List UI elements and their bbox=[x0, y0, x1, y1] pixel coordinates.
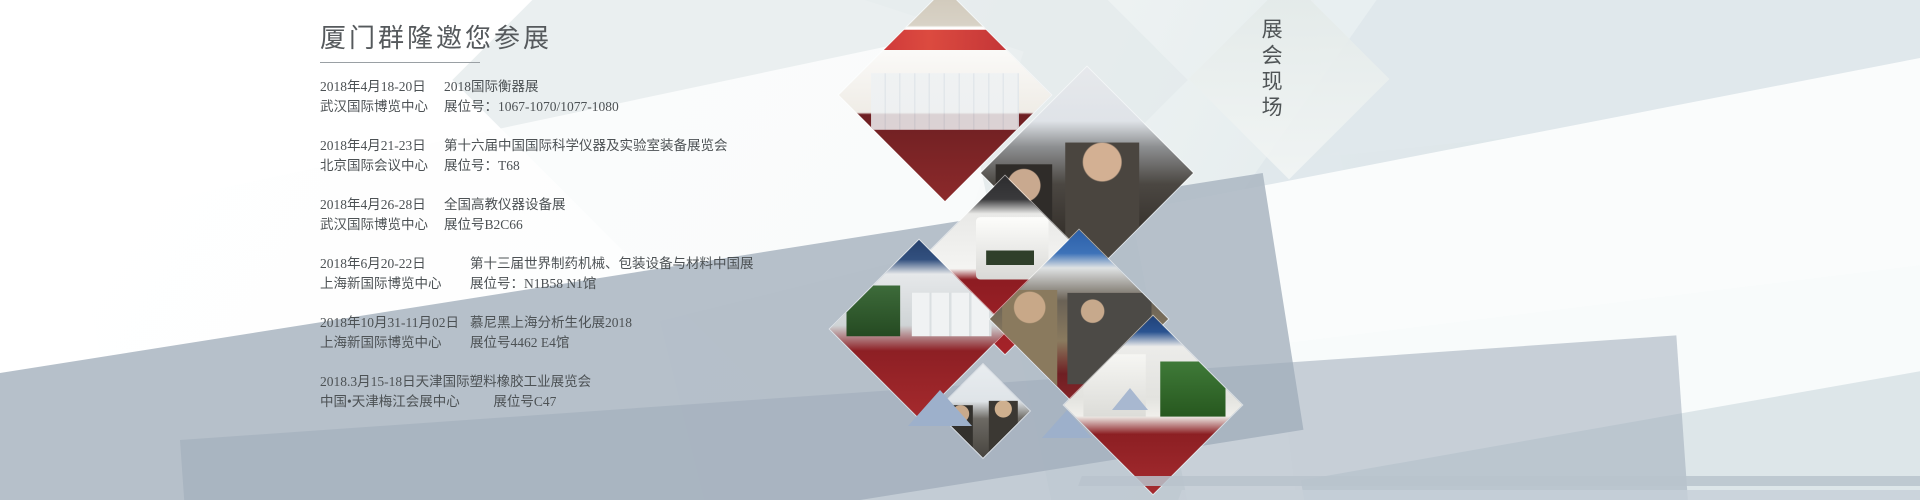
event-name: 第十三届世界制药机械、包装设备与材料中国展 bbox=[470, 254, 754, 274]
event-line-top: 2018.3月15-18日天津国际塑料橡胶工业展览会 bbox=[320, 372, 878, 392]
event-booth: 展位号：T68 bbox=[444, 156, 520, 176]
event-line-bottom: 武汉国际博览中心 展位号：1067-1070/1077-1080 bbox=[320, 97, 878, 117]
event-line-top: 2018年10月31-11月02日 慕尼黑上海分析生化展2018 bbox=[320, 313, 878, 333]
event-name: 2018国际衡器展 bbox=[444, 77, 539, 97]
event-line-bottom: 上海新国际博览中心 展位号4462 E4馆 bbox=[320, 333, 878, 353]
event-item: 2018年6月20-22日 第十三届世界制药机械、包装设备与材料中国展 上海新国… bbox=[320, 254, 878, 294]
event-line-bottom: 上海新国际博览中心 展位号：N1B58 N1馆 bbox=[320, 274, 878, 294]
event-line-top: 2018年4月18-20日 2018国际衡器展 bbox=[320, 77, 878, 97]
event-venue: 上海新国际博览中心 bbox=[320, 274, 470, 294]
event-date: 2018年10月31-11月02日 bbox=[320, 313, 470, 333]
event-line-bottom: 中国•天津梅江会展中心 展位号C47 bbox=[320, 392, 878, 412]
event-date: 2018年4月26-28日 bbox=[320, 195, 444, 215]
event-booth: 展位号：N1B58 N1馆 bbox=[470, 274, 596, 294]
event-item: 2018年4月18-20日 2018国际衡器展 武汉国际博览中心 展位号：106… bbox=[320, 77, 878, 117]
event-venue: 中国•天津梅江会展中心 bbox=[320, 392, 490, 412]
event-name: 慕尼黑上海分析生化展2018 bbox=[470, 313, 632, 333]
page-title: 厦门群隆邀您参展 bbox=[320, 22, 878, 56]
event-date: 2018.3月15-18日天津国际塑料橡胶工业展览会 bbox=[320, 372, 591, 392]
event-booth: 展位号C47 bbox=[493, 392, 556, 412]
event-list-panel: 厦门群隆邀您参展 2018年4月18-20日 2018国际衡器展 武汉国际博览中… bbox=[318, 22, 878, 431]
exhibition-banner: 展会现场 厦门群隆邀您参展 2018年4月18-20日 2018国际衡器展 武汉… bbox=[0, 0, 1920, 500]
event-venue: 武汉国际博览中心 bbox=[320, 97, 444, 117]
event-line-bottom: 武汉国际博览中心 展位号B2C66 bbox=[320, 215, 878, 235]
event-item: 2018年10月31-11月02日 慕尼黑上海分析生化展2018 上海新国际博览… bbox=[320, 313, 878, 353]
event-item: 2018年4月26-28日 全国高教仪器设备展 武汉国际博览中心 展位号B2C6… bbox=[320, 195, 878, 235]
event-booth: 展位号：1067-1070/1077-1080 bbox=[444, 97, 619, 117]
event-booth: 展位号B2C66 bbox=[444, 215, 523, 235]
event-line-top: 2018年4月26-28日 全国高教仪器设备展 bbox=[320, 195, 878, 215]
event-item: 2018年4月21-23日 第十六届中国国际科学仪器及实验室装备展览会 北京国际… bbox=[320, 136, 878, 176]
event-line-top: 2018年4月21-23日 第十六届中国国际科学仪器及实验室装备展览会 bbox=[320, 136, 878, 156]
event-line-bottom: 北京国际会议中心 展位号：T68 bbox=[320, 156, 878, 176]
event-line-top: 2018年6月20-22日 第十三届世界制药机械、包装设备与材料中国展 bbox=[320, 254, 878, 274]
event-booth: 展位号4462 E4馆 bbox=[470, 333, 569, 353]
event-venue: 武汉国际博览中心 bbox=[320, 215, 444, 235]
event-date: 2018年4月21-23日 bbox=[320, 136, 444, 156]
event-name: 全国高教仪器设备展 bbox=[444, 195, 566, 215]
event-date: 2018年4月18-20日 bbox=[320, 77, 444, 97]
event-item: 2018.3月15-18日天津国际塑料橡胶工业展览会 中国•天津梅江会展中心 展… bbox=[320, 372, 878, 412]
event-venue: 北京国际会议中心 bbox=[320, 156, 444, 176]
title-divider bbox=[320, 62, 480, 63]
event-name: 第十六届中国国际科学仪器及实验室装备展览会 bbox=[444, 136, 728, 156]
event-venue: 上海新国际博览中心 bbox=[320, 333, 470, 353]
event-date: 2018年6月20-22日 bbox=[320, 254, 470, 274]
